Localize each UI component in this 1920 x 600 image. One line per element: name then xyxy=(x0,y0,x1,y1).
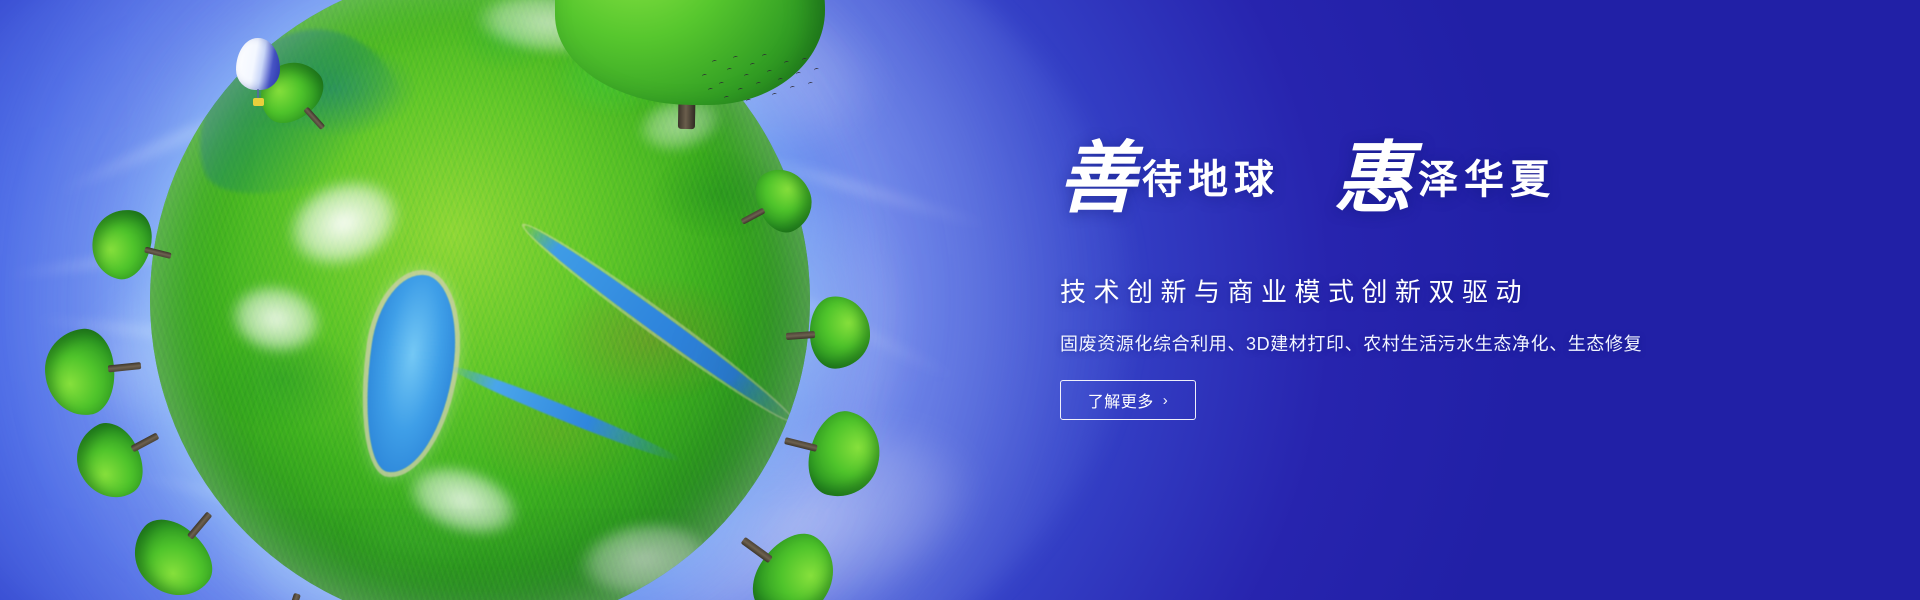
rim-tree xyxy=(119,487,242,600)
mountain-ridge xyxy=(172,7,418,215)
headline-char-hui: 惠 xyxy=(1334,135,1412,222)
rim-tree xyxy=(727,159,822,250)
banner-subtitle: 技术创新与商业模式创新双驱动 xyxy=(1060,272,1529,309)
globe-cloud xyxy=(451,0,646,70)
cloud-swirl xyxy=(599,104,971,556)
hero-tree-trunk xyxy=(678,4,697,129)
bird-flock xyxy=(700,52,820,106)
rim-tree xyxy=(232,582,336,600)
hero-banner: 善待地球惠泽华夏 技术创新与商业模式创新双驱动 固废资源化综合利用、3D建材打印… xyxy=(0,0,1920,600)
cloud-wisp xyxy=(654,226,966,388)
cloud-wisp xyxy=(51,53,358,200)
sky-haze xyxy=(0,0,1130,600)
cloud-swirl xyxy=(413,0,967,223)
rim-tree xyxy=(41,323,145,419)
learn-more-button[interactable]: 了解更多 › xyxy=(1060,380,1196,420)
chevron-right-icon: › xyxy=(1163,393,1169,408)
cloud-wisp xyxy=(704,139,996,233)
rim-tree xyxy=(64,402,176,509)
cloud-wisp xyxy=(1,229,300,282)
globe-cloud xyxy=(553,500,735,600)
banner-tagline: 固废资源化综合利用、3D建材打印、农村生活污水生态净化、生态修复 xyxy=(1060,330,1642,356)
learn-more-label: 了解更多 xyxy=(1088,388,1154,412)
rim-tree xyxy=(775,398,889,505)
headline-char-shan: 善 xyxy=(1058,135,1136,222)
balloon-envelope xyxy=(236,38,280,90)
cloud-swirl xyxy=(535,339,1065,600)
rim-tree xyxy=(85,203,180,290)
headline-text-zehuaxia: 泽华夏 xyxy=(1418,157,1556,202)
globe-cloud xyxy=(378,437,547,564)
headline-text-daidiqiu: 待地球 xyxy=(1142,157,1280,202)
hot-air-balloon xyxy=(236,38,280,108)
cloud-wisp xyxy=(122,467,438,545)
cloud-wisp xyxy=(331,8,589,63)
rim-tree xyxy=(717,504,851,600)
page-title: 善待地球惠泽华夏 xyxy=(1058,140,1556,218)
banner-content: 善待地球惠泽华夏 技术创新与商业模式创新双驱动 固废资源化综合利用、3D建材打印… xyxy=(1058,0,1878,600)
cloud-wisp xyxy=(30,312,369,360)
rim-tree xyxy=(783,294,872,372)
cloud-swirl xyxy=(56,288,663,600)
lake xyxy=(354,269,465,479)
cloud-swirl xyxy=(0,151,551,510)
river xyxy=(519,218,798,428)
cloud-swirl xyxy=(22,0,657,454)
globe-cloud xyxy=(209,264,343,373)
globe-cloud xyxy=(255,146,434,301)
river xyxy=(447,359,684,467)
cloud-swirl xyxy=(161,448,609,600)
balloon-basket xyxy=(253,98,264,106)
